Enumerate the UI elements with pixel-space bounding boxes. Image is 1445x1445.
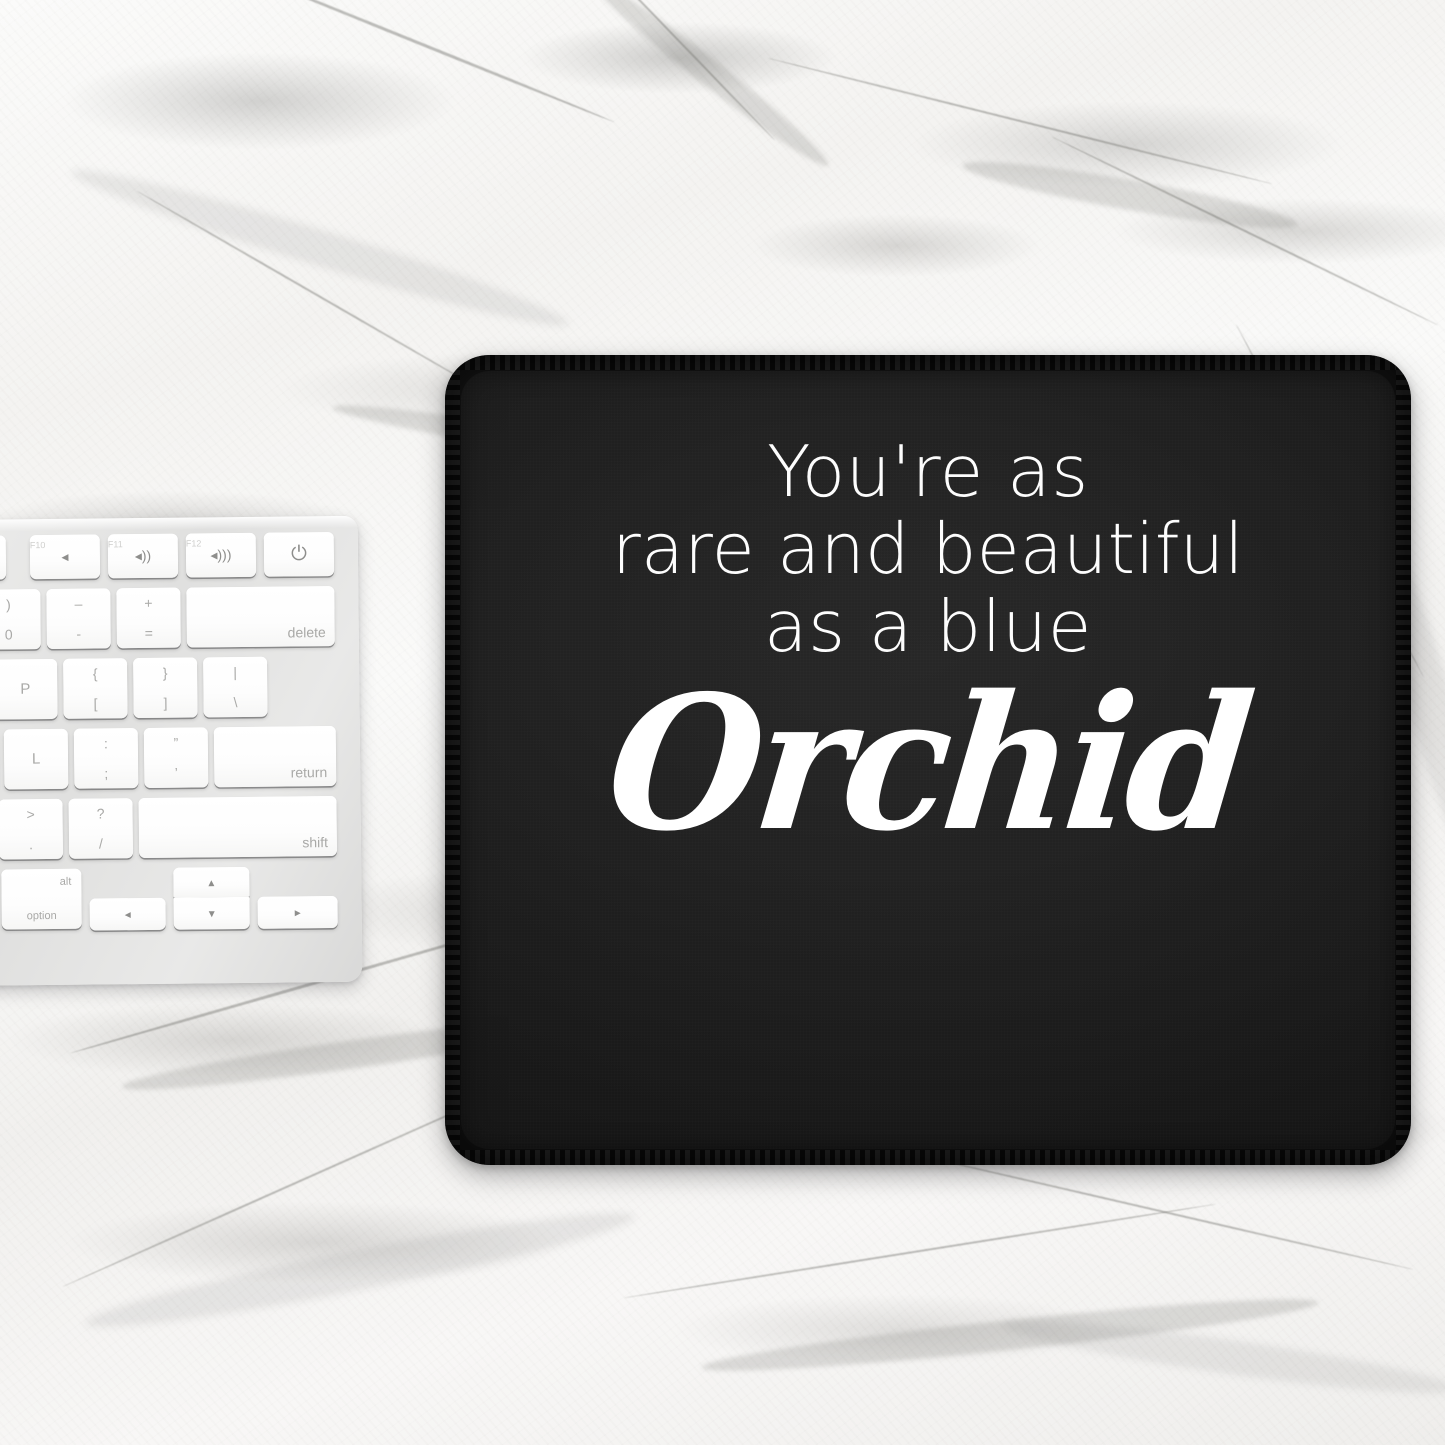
key-greater-than-label: > (0, 806, 63, 823)
key-period-label: . (0, 836, 63, 853)
key-slash[interactable]: ? / (68, 798, 133, 859)
key-bracket-right[interactable]: } ] (133, 657, 198, 718)
key-shift-right-label: shift (302, 834, 328, 850)
key-equal-shift-label: + (116, 595, 180, 612)
key-minus-shift-label: – (46, 595, 110, 612)
key-f9[interactable]: F9 (0, 535, 6, 580)
key-shift-right[interactable]: shift (138, 796, 337, 858)
mousepad-stitched-edge-vertical (445, 355, 1411, 1165)
key-semicolon-label: ; (74, 765, 138, 782)
key-0-shift-label: ) (0, 596, 41, 613)
volume-up-icon: ◂))) (186, 546, 256, 564)
key-alt-label: alt (1, 876, 81, 889)
key-minus[interactable]: – - (46, 588, 111, 649)
arrow-right-icon: ▸ (258, 905, 338, 920)
key-colon-label: : (74, 735, 138, 752)
key-p-label: P (0, 680, 57, 698)
key-f12[interactable]: ◂))) F12 (186, 533, 256, 578)
key-arrow-down[interactable]: ▾ (174, 897, 250, 930)
key-0-label: 0 (0, 626, 41, 643)
key-period[interactable]: > . (0, 799, 63, 860)
key-pipe-label: | (203, 664, 267, 681)
gaming-mouse-pad[interactable]: You're as rare and beautiful as a blue O… (445, 355, 1411, 1165)
key-backslash[interactable]: | \ (203, 657, 268, 718)
volume-mute-icon: ◂ (30, 548, 100, 566)
key-single-quote-label: ’ (144, 764, 208, 781)
key-bracket-left[interactable]: { [ (63, 658, 128, 719)
key-bracket-left-shift-label: { (63, 665, 127, 682)
key-quote[interactable]: ” ’ (144, 727, 209, 788)
volume-down-icon: ◂)) (108, 547, 178, 565)
key-option-label: option (2, 910, 82, 923)
key-bracket-right-label: ] (133, 694, 197, 711)
key-slash-label: / (69, 835, 133, 852)
key-l-label: L (4, 750, 68, 768)
arrow-down-icon: ▾ (174, 906, 250, 921)
key-semicolon[interactable]: : ; (74, 728, 139, 789)
key-delete[interactable]: delete (186, 586, 335, 648)
key-delete-label: delete (288, 624, 326, 640)
key-l[interactable]: L (4, 729, 69, 790)
key-power[interactable]: ⏻ (264, 532, 334, 577)
wireless-keyboard[interactable]: F9 ◂ F10 ◂)) F11 ◂))) F12 ⏻ ( 9 ) 0 – - (0, 516, 362, 988)
key-arrow-left[interactable]: ◂ (90, 898, 166, 931)
key-bracket-left-label: [ (63, 695, 127, 712)
key-arrow-up[interactable]: ▴ (173, 867, 249, 898)
arrow-up-icon: ▴ (173, 875, 249, 890)
key-f10[interactable]: ◂ F10 (30, 534, 100, 579)
key-equal[interactable]: + = (116, 588, 181, 649)
key-question-label: ? (69, 805, 133, 822)
key-backslash-label: \ (203, 694, 267, 711)
key-minus-label: - (47, 625, 111, 642)
power-icon: ⏻ (264, 543, 334, 567)
key-arrow-right[interactable]: ▸ (258, 896, 338, 929)
key-p[interactable]: P (0, 659, 58, 720)
product-photo-scene: F9 ◂ F10 ◂)) F11 ◂))) F12 ⏻ ( 9 ) 0 – - (0, 0, 1445, 1445)
key-double-quote-label: ” (144, 734, 208, 751)
key-equal-label: = (117, 625, 181, 642)
key-return-label: return (291, 764, 328, 780)
key-bracket-right-shift-label: } (133, 664, 197, 681)
key-option-right[interactable]: alt option (1, 869, 82, 930)
key-0[interactable]: ) 0 (0, 589, 41, 650)
arrow-left-icon: ◂ (90, 907, 166, 922)
key-return[interactable]: return (214, 726, 337, 787)
key-f11[interactable]: ◂)) F11 (108, 534, 178, 579)
